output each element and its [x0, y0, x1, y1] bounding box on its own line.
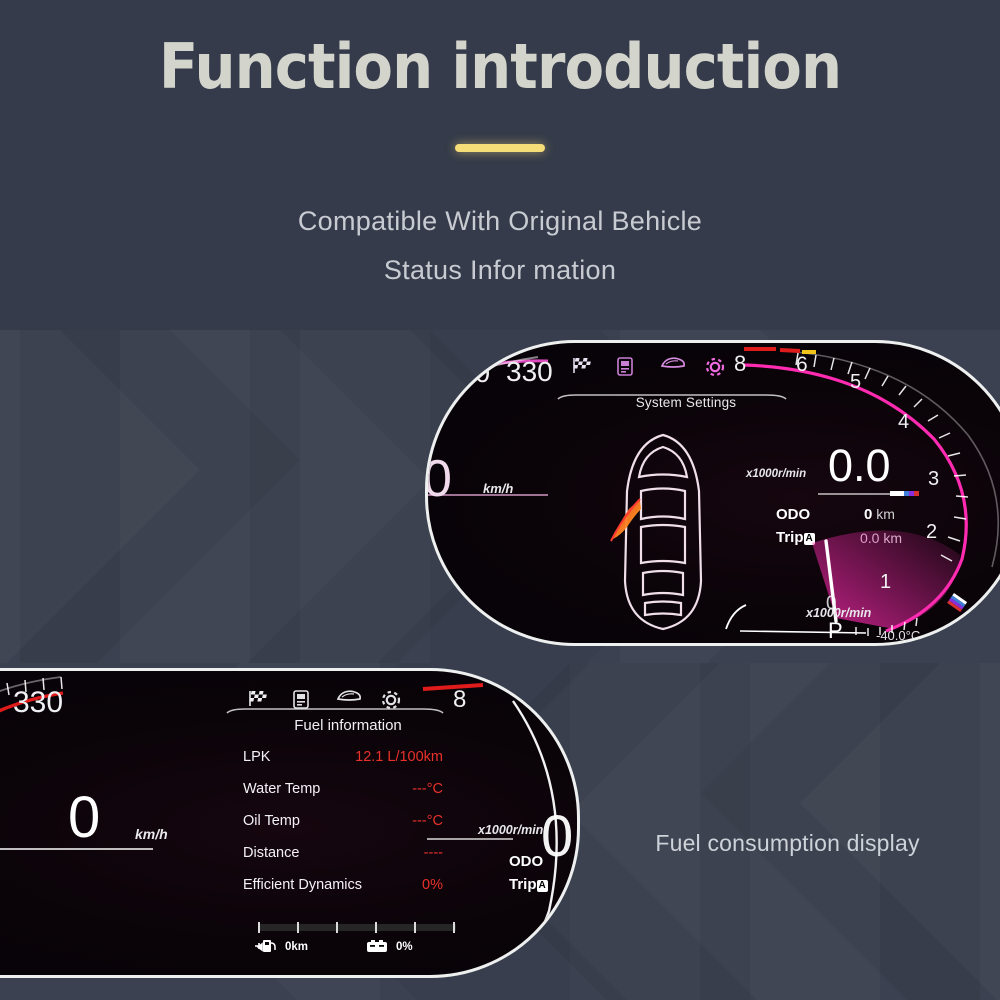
trip-label-row-bottom: TripA: [509, 876, 548, 893]
car-icon[interactable]: [660, 356, 682, 376]
rpm-scale-8: 8: [734, 351, 746, 377]
speed-scale-330: 330: [13, 686, 63, 720]
trip-label-bottom: Trip: [509, 876, 537, 893]
fuel-info-value-efficient-dynamics: 0%: [422, 877, 443, 893]
speed-value-top: 0: [425, 453, 452, 505]
fuel-pump-icon: [255, 938, 277, 954]
odo-label-bottom: ODO: [509, 853, 543, 870]
gear-icon[interactable]: [380, 689, 402, 709]
speed-value-bottom: 0: [68, 789, 100, 847]
speed-unit-top: km/h: [483, 481, 513, 496]
rpm-scale-top-bottom: 8: [453, 686, 466, 714]
fuel-info-row-oil-temp: Oil Temp ---°C: [243, 813, 443, 831]
fuel-info-value-distance: ----: [424, 845, 443, 861]
rpm-value-partial: 0: [541, 803, 573, 870]
fuel-info-row-efficient-dynamics: Efficient Dynamics 0%: [243, 877, 443, 895]
header-section: Function introduction Compatible With Or…: [0, 0, 1000, 330]
rpm-scale-6: 6: [796, 353, 808, 377]
battery-value: 0%: [396, 941, 413, 953]
rpm-scale-3: 3: [928, 468, 939, 491]
fuel-info-key-distance: Distance: [243, 845, 299, 861]
subtitle-line-1: Compatible With Original Behicle: [0, 206, 1000, 237]
gear-indicator: P: [828, 618, 843, 644]
cluster-top-menu[interactable]: [572, 356, 726, 376]
fuel-info-key-efficient-dynamics: Efficient Dynamics: [243, 877, 362, 893]
fuel-info-row-lpk: LPK 12.1 L/100km: [243, 749, 443, 767]
rpm-unit-label-bottom-panel: x1000r/min: [478, 823, 543, 837]
fuel-info-value-oil-temp: ---°C: [412, 813, 443, 829]
fuel-info-key-lpk: LPK: [243, 749, 270, 765]
rpm-scale-4: 4: [898, 411, 909, 434]
instrument-cluster-bottom[interactable]: 210 270 330 8 0 km/h: [0, 668, 580, 978]
battery-icon: [366, 939, 390, 953]
accent-divider-bar: [455, 144, 545, 152]
outside-temperature: -40.0°C: [876, 628, 920, 643]
fuel-info-row-distance: Distance ----: [243, 845, 443, 863]
subtitle-line-2: Status Infor mation: [0, 255, 1000, 286]
speed-scale-330: 330: [506, 356, 553, 388]
car-icon[interactable]: [336, 689, 358, 709]
speed-scale-70: 70: [460, 358, 490, 389]
rpm-scale-5: 5: [850, 371, 861, 394]
car-topview-graphic: [593, 431, 733, 641]
fuel-info-value-water-temp: ---°C: [412, 781, 443, 797]
range-segment-bar: [258, 924, 456, 931]
page-title: Function introduction: [35, 30, 965, 103]
rpm-scale-2: 2: [926, 521, 937, 544]
trip-badge-bottom: A: [537, 880, 548, 892]
checkered-flag-icon[interactable]: [572, 356, 594, 376]
fuel-info-value-lpk: 12.1 L/100km: [355, 749, 443, 765]
trip-computer-icon[interactable]: [292, 689, 314, 709]
feature-label-fuel: Fuel consumption display: [615, 828, 960, 858]
instrument-cluster-top[interactable]: 70 330 0 km/h: [425, 340, 1000, 646]
cluster-bottom-menu[interactable]: [248, 689, 402, 709]
fuel-info-key-oil-temp: Oil Temp: [243, 813, 300, 829]
fuel-info-title: Fuel information: [243, 717, 453, 734]
checkered-flag-icon[interactable]: [248, 689, 270, 709]
fuel-info-row-water-temp: Water Temp ---°C: [243, 781, 443, 799]
trip-computer-icon[interactable]: [616, 356, 638, 376]
rpm-scale-1: 1: [880, 571, 891, 594]
speed-unit-bottom: km/h: [135, 826, 168, 842]
range-value: 0km: [285, 941, 308, 953]
fuel-info-key-water-temp: Water Temp: [243, 781, 320, 797]
